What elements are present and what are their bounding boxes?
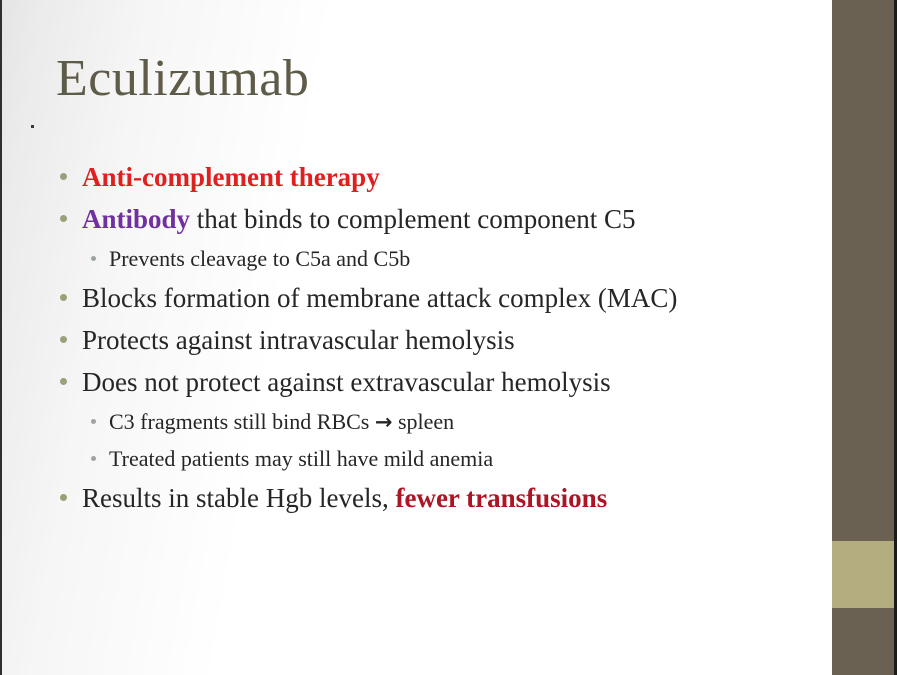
bullet-marker-level1-icon	[60, 378, 67, 385]
bullet-text: Prevents cleavage to C5a and C5b	[109, 246, 410, 272]
bullet-marker-level1-icon	[60, 294, 67, 301]
slide-left-edge-rule	[0, 0, 2, 675]
emphasis-span: Antibody	[82, 204, 190, 234]
plain-span: spleen	[392, 409, 454, 434]
bullet-stable-hgb-fewer-transfusions: Results in stable Hgb levels, fewer tran…	[60, 483, 820, 525]
bullet-marker-level1-icon	[60, 494, 67, 501]
page-title: Eculizumab	[56, 52, 309, 107]
bullet-antibody-binds-c5: Antibody that binds to complement compon…	[60, 204, 820, 246]
bullet-c3-fragments-spleen: C3 fragments still bind RBCs → spleen	[60, 409, 820, 446]
bullet-marker-level1-icon	[60, 336, 67, 343]
bullet-text: Antibody that binds to complement compon…	[82, 204, 635, 235]
bullet-marker-level2-icon	[91, 419, 96, 424]
bullet-prevents-cleavage: Prevents cleavage to C5a and C5b	[60, 246, 820, 283]
emphasis-span: →	[375, 410, 393, 434]
bullet-text: Protects against intravascular hemolysis	[82, 325, 515, 356]
bullet-text: Treated patients may still have mild ane…	[109, 446, 493, 472]
bullet-protects-intravascular: Protects against intravascular hemolysis	[60, 325, 820, 367]
bullet-list: Anti-complement therapyAntibody that bin…	[60, 162, 820, 525]
bullet-marker-level1-icon	[60, 173, 67, 180]
bullet-anti-complement-therapy: Anti-complement therapy	[60, 162, 820, 204]
bullet-text: C3 fragments still bind RBCs → spleen	[109, 409, 454, 435]
bullet-text: Blocks formation of membrane attack comp…	[82, 283, 677, 314]
bullet-text: Anti-complement therapy	[82, 162, 380, 193]
bullet-no-protect-extravascular: Does not protect against extravascular h…	[60, 367, 820, 409]
stray-dot-artifact	[31, 125, 34, 128]
plain-span: Protects against intravascular hemolysis	[82, 325, 515, 355]
plain-span: Does not protect against extravascular h…	[82, 367, 611, 397]
plain-span: Results in stable Hgb levels,	[82, 483, 395, 513]
bullet-mild-anemia: Treated patients may still have mild ane…	[60, 446, 820, 483]
plain-span: that binds to complement component C5	[190, 204, 635, 234]
bullet-marker-level2-icon	[91, 256, 96, 261]
plain-span: Blocks formation of membrane attack comp…	[82, 283, 677, 313]
slide-side-accent-block	[832, 541, 894, 608]
emphasis-span: Anti-complement therapy	[82, 162, 380, 192]
slide-canvas: Eculizumab Anti-complement therapyAntibo…	[0, 0, 900, 675]
plain-span: Prevents cleavage to C5a and C5b	[109, 246, 410, 271]
plain-span: Treated patients may still have mild ane…	[109, 446, 493, 471]
bullet-text: Results in stable Hgb levels, fewer tran…	[82, 483, 607, 514]
bullet-marker-level1-icon	[60, 215, 67, 222]
emphasis-span: fewer transfusions	[395, 483, 607, 513]
bullet-marker-level2-icon	[91, 456, 96, 461]
bullet-text: Does not protect against extravascular h…	[82, 367, 611, 398]
plain-span: C3 fragments still bind RBCs	[109, 409, 375, 434]
bullet-blocks-mac-formation: Blocks formation of membrane attack comp…	[60, 283, 820, 325]
